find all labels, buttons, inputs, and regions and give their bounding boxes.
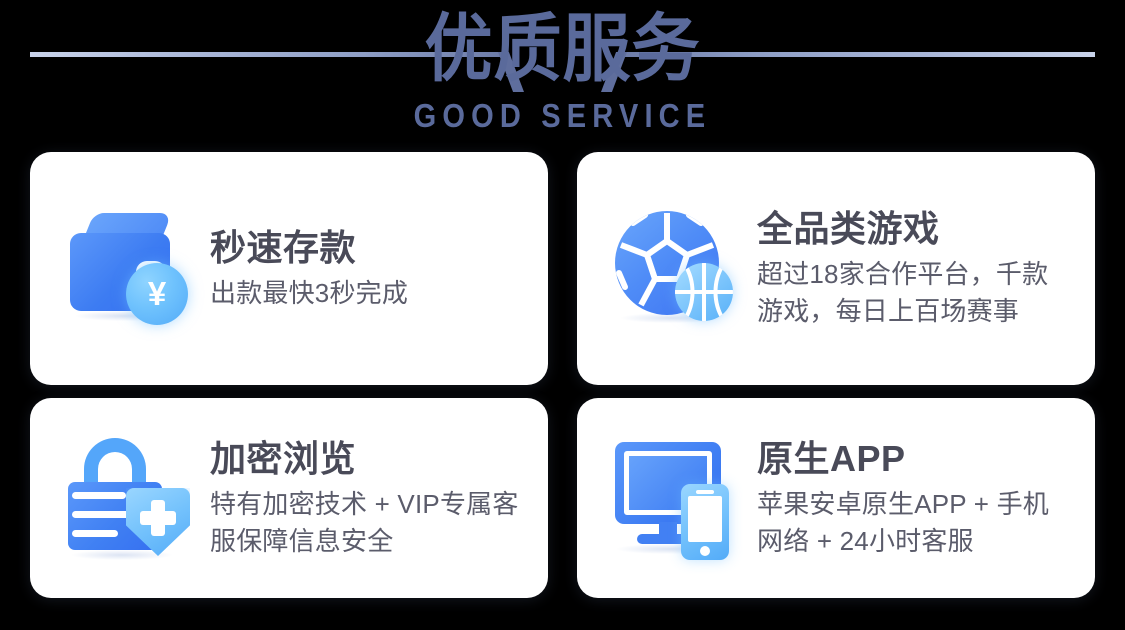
subtitle-line: 游戏，每日上百场赛事: [757, 293, 1048, 330]
banner-title-en: GOOD SERVICE: [68, 98, 1058, 134]
soccer-basketball-icon: [611, 203, 743, 335]
subtitle-line: 特有加密技术 + VIP专属客: [210, 486, 519, 523]
banner-header: 优质服务 GOOD SERVICE: [0, 0, 1125, 148]
feature-card-deposit-body: 秒速存款 出款最快3秒完成: [210, 226, 408, 312]
feature-card-grid: ¥ 秒速存款 出款最快3秒完成: [30, 152, 1095, 598]
subtitle-line: 超过18家合作平台，千款: [757, 256, 1048, 293]
feature-card-games-body: 全品类游戏 超过18家合作平台，千款 游戏，每日上百场赛事: [757, 207, 1048, 330]
feature-card-subtitle: 特有加密技术 + VIP专属客 服保障信息安全: [210, 486, 519, 560]
good-service-banner: 优质服务 GOOD SERVICE ¥ 秒速存款 出款最快3秒完成: [0, 0, 1125, 630]
subtitle-line: 服保障信息安全: [210, 523, 519, 560]
subtitle-line: 苹果安卓原生APP + 手机: [757, 486, 1049, 523]
yen-symbol: ¥: [126, 263, 188, 325]
feature-card-native-app-body: 原生APP 苹果安卓原生APP + 手机 网络 + 24小时客服: [757, 437, 1049, 560]
banner-title-cn: 优质服务: [45, 8, 1080, 90]
subtitle-line: 网络 + 24小时客服: [757, 523, 1049, 560]
feature-card-subtitle: 超过18家合作平台，千款 游戏，每日上百场赛事: [757, 256, 1048, 330]
feature-card-subtitle: 苹果安卓原生APP + 手机 网络 + 24小时客服: [757, 486, 1049, 560]
feature-card-title: 加密浏览: [210, 437, 519, 481]
wallet-yen-icon: ¥: [64, 203, 196, 335]
lock-shield-icon: [64, 432, 196, 564]
subtitle-line: 出款最快3秒完成: [210, 275, 408, 312]
feature-card-encryption-body: 加密浏览 特有加密技术 + VIP专属客 服保障信息安全: [210, 437, 519, 560]
feature-card-deposit[interactable]: ¥ 秒速存款 出款最快3秒完成: [30, 152, 548, 385]
feature-card-games[interactable]: 全品类游戏 超过18家合作平台，千款 游戏，每日上百场赛事: [577, 152, 1095, 385]
feature-card-subtitle: 出款最快3秒完成: [210, 275, 408, 312]
feature-card-title: 秒速存款: [210, 226, 408, 270]
monitor-phone-icon: [611, 432, 743, 564]
feature-card-title: 全品类游戏: [757, 207, 1048, 251]
feature-card-native-app[interactable]: 原生APP 苹果安卓原生APP + 手机 网络 + 24小时客服: [577, 398, 1095, 598]
feature-card-title: 原生APP: [757, 437, 1049, 481]
feature-card-encryption[interactable]: 加密浏览 特有加密技术 + VIP专属客 服保障信息安全: [30, 398, 548, 598]
